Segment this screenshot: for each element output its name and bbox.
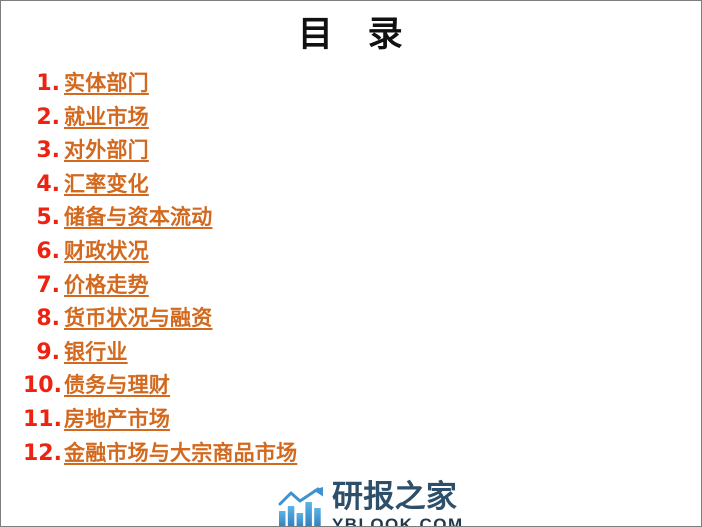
toc-item-number: 9. [23,342,64,364]
toc-item-number: 11. [23,409,64,431]
page-title: 目 录 [1,14,702,56]
toc-item-label[interactable]: 银行业 [64,342,128,363]
toc-item-label[interactable]: 对外部门 [64,140,149,161]
logo-domain: YBLOOK.COM [332,516,464,527]
toc-item-number: 12. [23,443,64,465]
logo-text-block: 研报之家 YBLOOK.COM [332,482,464,527]
toc-item-number: 6. [23,241,64,263]
toc-item-10[interactable]: 10. 债务与理财 [23,375,623,409]
toc-item-4[interactable]: 4. 汇率变化 [23,174,623,208]
toc-item-number: 1. [23,73,64,95]
toc-item-label[interactable]: 房地产市场 [64,409,170,430]
bar-chart-trend-icon [278,487,325,527]
toc-item-number: 3. [23,140,64,162]
toc-item-label[interactable]: 就业市场 [64,107,149,128]
toc-item-9[interactable]: 9. 银行业 [23,342,623,376]
toc-item-12[interactable]: 12. 金融市场与大宗商品市场 [23,443,623,477]
toc-item-number: 7. [23,275,64,297]
toc-item-number: 8. [23,308,64,330]
toc-item-5[interactable]: 5. 储备与资本流动 [23,207,623,241]
toc-item-7[interactable]: 7. 价格走势 [23,275,623,309]
toc-item-6[interactable]: 6. 财政状况 [23,241,623,275]
toc-item-number: 4. [23,174,64,196]
toc-item-number: 2. [23,107,64,129]
toc-item-label[interactable]: 债务与理财 [64,375,170,396]
toc-item-number: 5. [23,207,64,229]
toc-item-1[interactable]: 1. 实体部门 [23,73,623,107]
toc-item-label[interactable]: 实体部门 [64,73,149,94]
toc-item-label[interactable]: 储备与资本流动 [64,207,212,228]
toc-item-3[interactable]: 3. 对外部门 [23,140,623,174]
toc-item-label[interactable]: 汇率变化 [64,174,149,195]
toc-item-11[interactable]: 11. 房地产市场 [23,409,623,443]
slide-canvas: 目 录 1. 实体部门 2. 就业市场 3. 对外部门 4. 汇率变化 5. 储… [0,0,702,527]
logo-chinese-name: 研报之家 [332,482,464,513]
table-of-contents-list: 1. 实体部门 2. 就业市场 3. 对外部门 4. 汇率变化 5. 储备与资本… [23,73,623,476]
toc-item-label[interactable]: 金融市场与大宗商品市场 [64,443,297,464]
toc-item-2[interactable]: 2. 就业市场 [23,107,623,141]
toc-item-label[interactable]: 价格走势 [64,275,149,296]
toc-item-8[interactable]: 8. 货币状况与融资 [23,308,623,342]
toc-item-number: 10. [23,375,64,397]
site-watermark-logo: 研报之家 YBLOOK.COM [278,482,464,527]
toc-item-label[interactable]: 财政状况 [64,241,149,262]
toc-item-label[interactable]: 货币状况与融资 [64,308,212,329]
